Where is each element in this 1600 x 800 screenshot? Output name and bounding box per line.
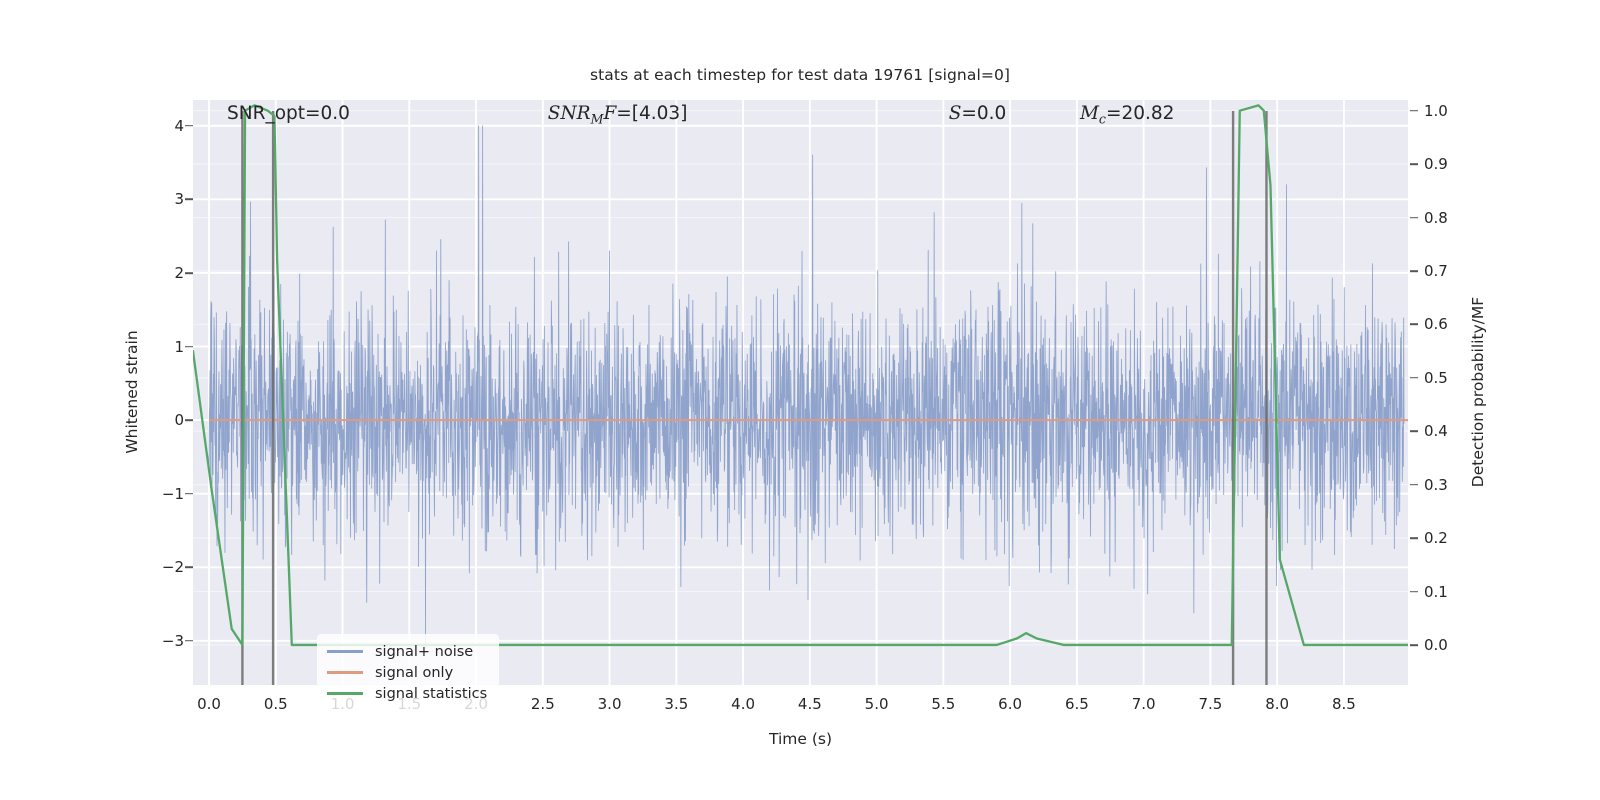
y-axis-right-tick-label: 0.2 <box>1424 529 1448 547</box>
y-axis-right-tick-mark <box>1410 591 1418 593</box>
plot-area: SNR_opt=0.0SNRMF=[4.03]S=0.0Mc=20.82 <box>193 100 1408 685</box>
y-axis-right-tick-mark <box>1410 430 1418 432</box>
y-axis-left-tick-mark <box>185 272 193 274</box>
x-axis-tick-label: 5.5 <box>931 695 955 713</box>
y-axis-left-tick-mark <box>185 199 193 201</box>
y-axis-left-label: Whitened strain <box>123 330 141 453</box>
annotation-s-stat: S=0.0 <box>949 103 1007 124</box>
legend-item[interactable]: signal only <box>327 662 487 683</box>
y-axis-left-tick-label: −1 <box>162 485 184 503</box>
x-axis-tick-label: 6.5 <box>1065 695 1089 713</box>
y-axis-right-tick-label: 0.0 <box>1424 636 1448 654</box>
y-axis-left-tick-mark <box>185 493 193 495</box>
y-axis-left-tick-label: 4 <box>174 117 184 135</box>
x-axis-tick-label: 2.5 <box>531 695 555 713</box>
y-axis-left-tick-mark <box>185 125 193 127</box>
annotation-chirp-mass: Mc=20.82 <box>1080 103 1174 127</box>
legend-label: signal statistics <box>375 686 487 702</box>
y-axis-right-tick-label: 0.5 <box>1424 369 1448 387</box>
y-axis-left-tick-label: −3 <box>162 632 184 650</box>
x-axis-tick-label: 0.0 <box>197 695 221 713</box>
legend-swatch-icon <box>327 692 363 694</box>
y-axis-left-tick-label: 0 <box>174 411 184 429</box>
x-axis-tick-label: 7.0 <box>1132 695 1156 713</box>
x-axis-tick-label: 4.5 <box>798 695 822 713</box>
annotation-layer: SNR_opt=0.0SNRMF=[4.03]S=0.0Mc=20.82 <box>193 100 1408 685</box>
legend-item[interactable]: signal+ noise <box>327 641 487 662</box>
y-axis-right-tick-mark <box>1410 324 1418 326</box>
y-axis-right-tick-mark <box>1410 644 1418 646</box>
y-axis-left-tick-label: 3 <box>174 190 184 208</box>
y-axis-right-tick-mark <box>1410 484 1418 486</box>
legend-box[interactable]: signal+ noisesignal onlysignal statistic… <box>317 634 499 711</box>
y-axis-right-tick-label: 1.0 <box>1424 102 1448 120</box>
y-axis-right-tick-label: 0.8 <box>1424 209 1448 227</box>
chart-title: stats at each timestep for test data 197… <box>0 66 1600 84</box>
x-axis-tick-label: 3.0 <box>598 695 622 713</box>
y-axis-right-tick-mark <box>1410 110 1418 112</box>
y-axis-left-tick-label: 2 <box>174 264 184 282</box>
y-axis-left-tick-mark <box>185 640 193 642</box>
x-axis-tick-label: 6.0 <box>998 695 1022 713</box>
y-axis-right-tick-label: 0.7 <box>1424 262 1448 280</box>
figure-canvas: stats at each timestep for test data 197… <box>0 0 1600 800</box>
x-axis-tick-label: 5.0 <box>865 695 889 713</box>
y-axis-right-tick-label: 0.3 <box>1424 476 1448 494</box>
x-axis-tick-label: 3.5 <box>664 695 688 713</box>
y-axis-left-tick-mark <box>185 566 193 568</box>
y-axis-right-tick-mark <box>1410 537 1418 539</box>
x-axis-tick-label: 0.5 <box>264 695 288 713</box>
y-axis-left-tick-mark <box>185 419 193 421</box>
y-axis-left-tick-label: −2 <box>162 558 184 576</box>
y-axis-right-tick-label: 0.1 <box>1424 583 1448 601</box>
y-axis-right-tick-mark <box>1410 217 1418 219</box>
legend-swatch-icon <box>327 650 363 652</box>
y-axis-right-tick-label: 0.9 <box>1424 155 1448 173</box>
y-axis-right-tick-mark <box>1410 377 1418 379</box>
legend-item[interactable]: signal statistics <box>327 683 487 704</box>
x-axis-tick-label: 8.0 <box>1265 695 1289 713</box>
y-axis-right-tick-mark <box>1410 270 1418 272</box>
annotation-snr-opt: SNR_opt=0.0 <box>227 103 350 124</box>
x-axis-tick-label: 8.5 <box>1332 695 1356 713</box>
x-axis-tick-label: 4.0 <box>731 695 755 713</box>
x-axis-tick-label: 7.5 <box>1198 695 1222 713</box>
x-axis-label: Time (s) <box>193 730 1408 748</box>
y-axis-right-label: Detection probability/MF <box>1469 297 1487 487</box>
y-axis-right-tick-label: 0.6 <box>1424 315 1448 333</box>
annotation-snr-mf: SNRMF=[4.03] <box>548 103 688 127</box>
legend-label: signal+ noise <box>375 644 473 660</box>
y-axis-left-tick-mark <box>185 346 193 348</box>
y-axis-right-tick-label: 0.4 <box>1424 422 1448 440</box>
y-axis-left-tick-label: 1 <box>174 338 184 356</box>
legend-label: signal only <box>375 665 453 681</box>
y-axis-right-tick-mark <box>1410 163 1418 165</box>
legend-swatch-icon <box>327 671 363 673</box>
